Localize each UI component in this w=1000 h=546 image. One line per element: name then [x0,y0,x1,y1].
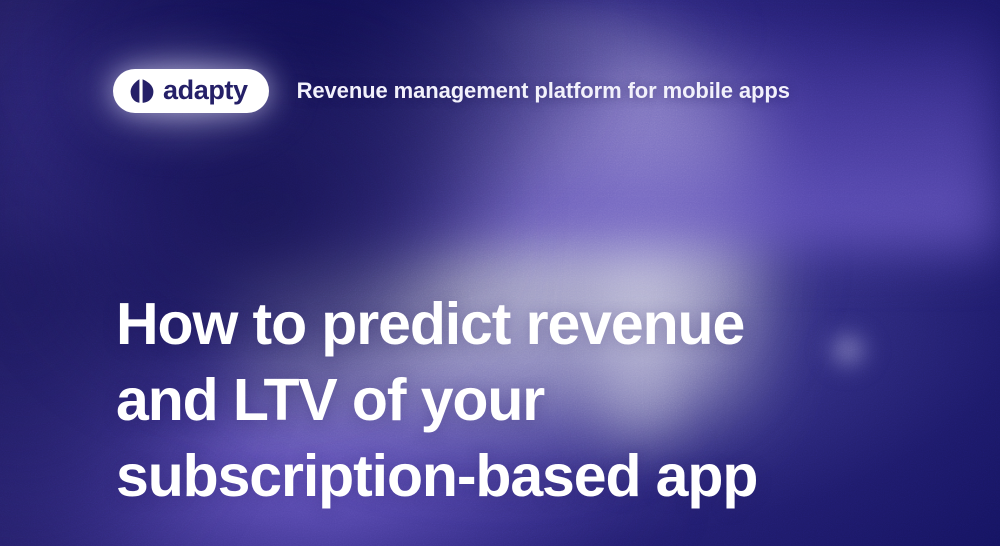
headline-line-2: and LTV of your [116,362,906,438]
adapty-leaf-icon [130,78,154,104]
brand-header: adapty Revenue management platform for m… [113,69,790,113]
cover-content: adapty Revenue management platform for m… [0,0,1000,546]
page-title: How to predict revenue and LTV of your s… [116,286,906,514]
headline-line-1: How to predict revenue [116,286,906,362]
brand-tagline: Revenue management platform for mobile a… [297,78,790,104]
adapty-wordmark: adapty [163,77,248,104]
adapty-logo[interactable]: adapty [113,69,269,113]
headline-line-3: subscription-based app [116,438,906,514]
cover-canvas: adapty Revenue management platform for m… [0,0,1000,546]
